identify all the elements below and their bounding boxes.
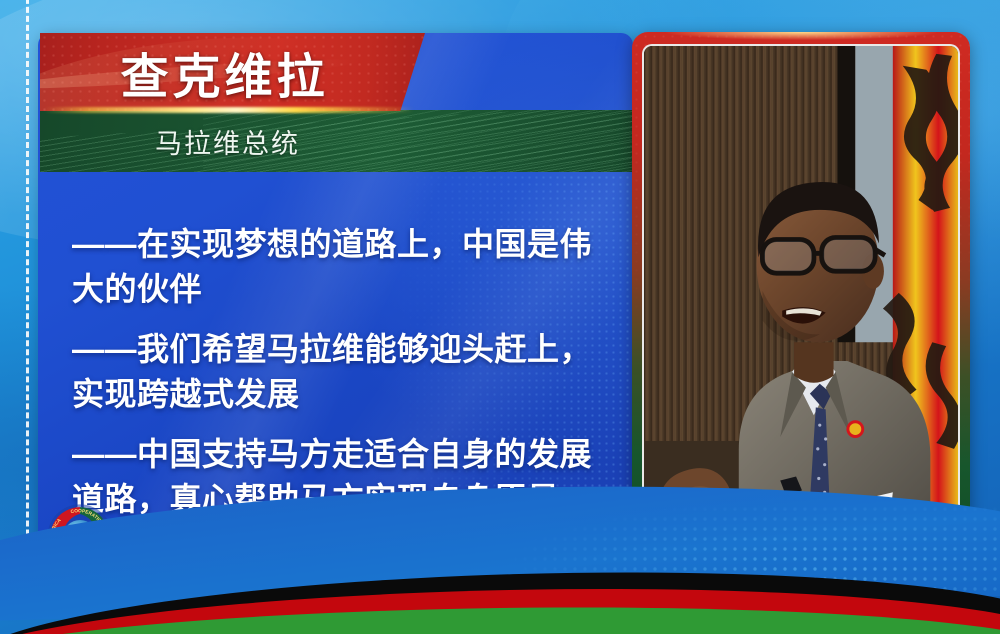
quote-item-1: ——在实现梦想的道路上，中国是伟大的伙伴 [72, 222, 602, 313]
president-interview-photo [644, 46, 958, 558]
quote-item-2: ——我们希望马拉维能够迎头赶上，实现跨越式发展 [72, 327, 602, 418]
name-title: 查克维拉 [40, 33, 425, 111]
photo-inner-border [642, 44, 960, 563]
broadcast-lower-third-graphic: 马拉维总统 查克维拉 ——在实现梦想的道路上，中国是伟大的伙伴 ——我们希望马拉… [0, 0, 1000, 634]
role-subtitle: 马拉维总统 [40, 110, 425, 172]
